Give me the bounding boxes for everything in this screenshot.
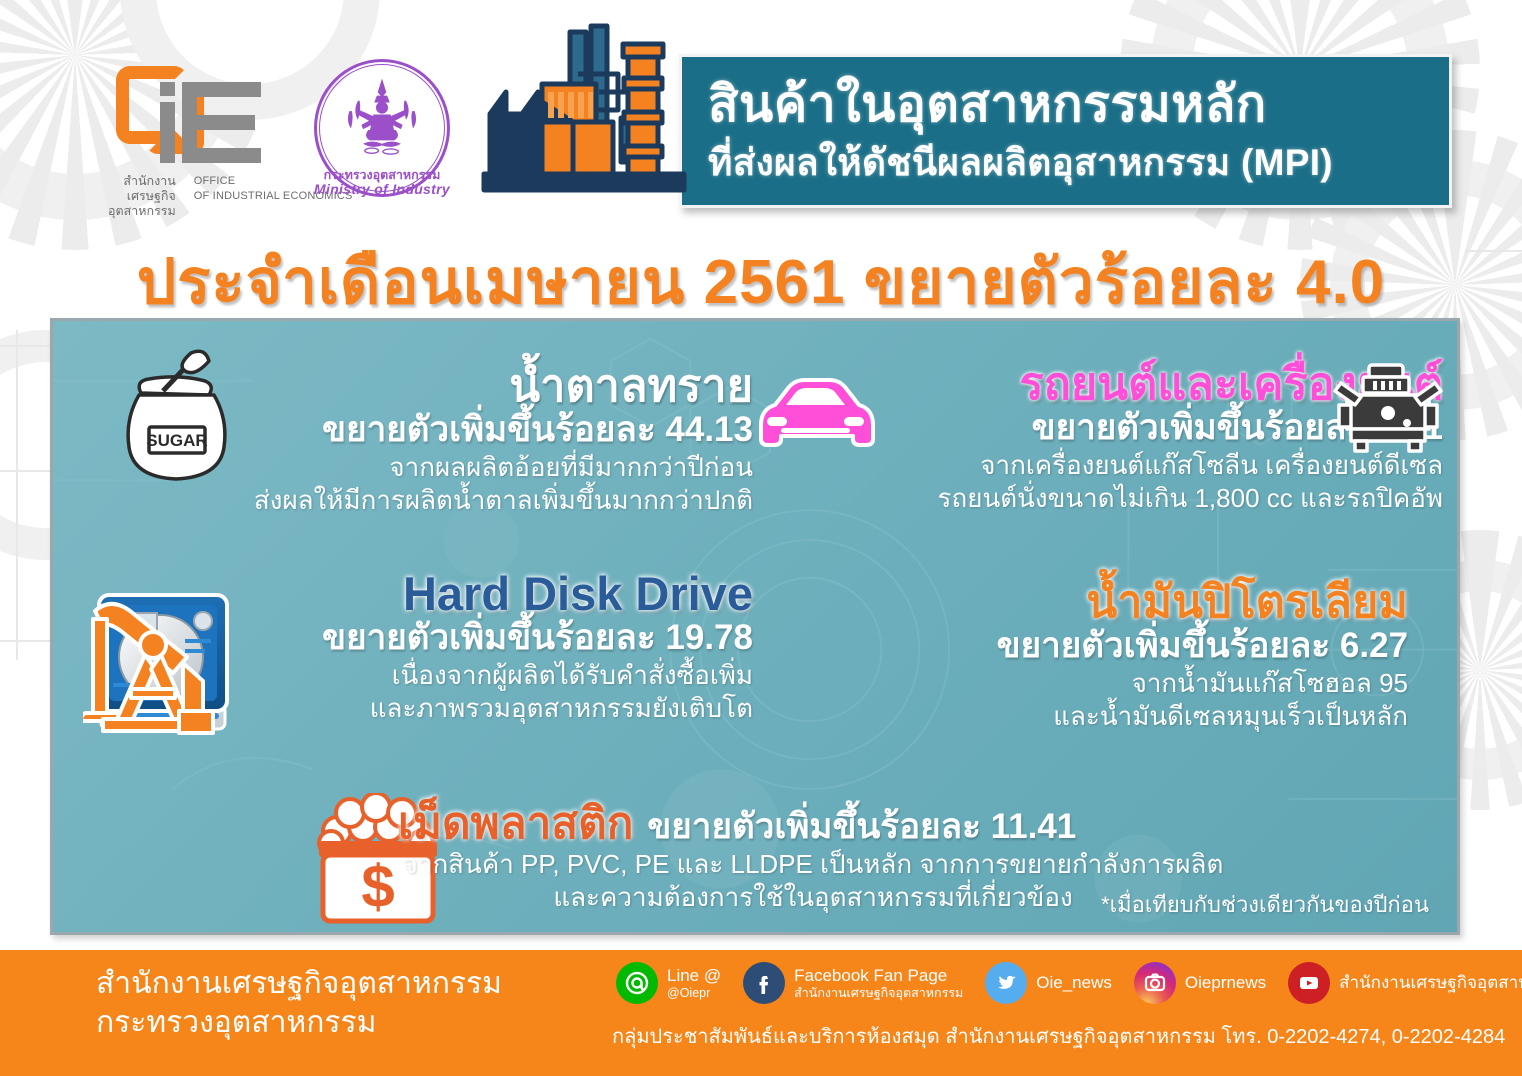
item-plastic-first-row: เม็ดพลาสติก ขยายตัวเพิ่มขึ้นร้อยละ 11.41 [398, 801, 1228, 848]
social-label-youtube-main: สำนักงานเศรษฐกิจอุตสาหกรรม [1339, 973, 1522, 992]
social-label-twitter-main: Oie_news [1036, 973, 1112, 992]
ministry-of-industry-seal: กระทรวงอุตสาหกรรม Ministry of Industry [306, 55, 458, 207]
social-label-facebook-main: Facebook Fan Page [794, 966, 947, 985]
car-icon [753, 373, 878, 459]
social-label-instagram-main: Oieprnews [1185, 973, 1266, 992]
page-header: สำนักงาน เศรษฐกิจอุตสาหกรรม OFFICE OF IN… [0, 0, 1522, 222]
item-petroleum-stat: ขยายตัวเพิ่มขึ้นร้อยละ 6.27 [753, 625, 1408, 667]
item-sugar: น้ำตาลทราย ขยายตัวเพิ่มขึ้นร้อยละ 44.13 … [133, 363, 753, 517]
footer-contact-line: กลุ่มประชาสัมพันธ์และบริการห้องสมุด สำนั… [612, 1020, 1505, 1052]
social-label-line-sub: @Oiepr [667, 986, 721, 1001]
oie-letter-i-dot [160, 82, 175, 96]
svg-text:$: $ [361, 853, 394, 920]
seal-text-english: Ministry of Industry [307, 182, 457, 196]
oil-pumpjack-icon [83, 593, 263, 743]
item-petroleum-headline: น้ำมันปิโตรเลียม [753, 579, 1408, 625]
main-content-panel: SUGAR น้ำตาลทราย ขยายตัวเพิ่มขึ้นร้อยละ … [50, 318, 1460, 935]
oie-caption-thai-line1: สำนักงาน [108, 174, 176, 189]
footer-organization: สำนักงานเศรษฐกิจอุตสาหกรรม กระทรวงอุตสาห… [96, 964, 502, 1042]
instagram-icon[interactable] [1134, 962, 1176, 1004]
item-automotive-desc-2: รถยนต์นั่งขนาดไม่เกิน 1,800 cc และรถปิคอ… [753, 482, 1443, 515]
item-plastic-stat: ขยายตัวเพิ่มขึ้นร้อยละ 11.41 [647, 806, 1076, 848]
social-link-twitter[interactable]: Oie_news [985, 962, 1112, 1004]
item-sugar-desc-2: ส่งผลให้มีการผลิตน้ำตาลเพิ่มขึ้นมากกว่าป… [133, 484, 753, 517]
item-petroleum-desc-2: และน้ำมันดีเซลหมุนเร็วเป็นหลัก [753, 700, 1408, 733]
youtube-icon[interactable] [1288, 962, 1330, 1004]
oie-letter-e-bar-top [182, 82, 261, 97]
oie-logo-mark [116, 62, 266, 167]
factory-icon [478, 22, 713, 214]
seal-text: กระทรวงอุตสาหกรรม Ministry of Industry [307, 168, 457, 196]
social-label-line: Line @ @Oiepr [667, 966, 721, 1001]
social-label-facebook: Facebook Fan Page สำนักงานเศรษฐกิจอุตสาห… [794, 966, 963, 1001]
social-link-youtube[interactable]: สำนักงานเศรษฐกิจอุตสาหกรรม [1288, 962, 1522, 1004]
title-banner: สินค้าในอุตสาหกรรมหลัก ที่ส่งผลให้ดัชนีผ… [679, 54, 1452, 208]
title-line-2: ที่ส่งผลให้ดัชนีผลผลิตอุสาหกรรม (MPI) [708, 133, 1333, 192]
oie-caption-thai-line2: เศรษฐกิจอุตสาหกรรม [108, 189, 176, 219]
item-petroleum: น้ำมันปิโตรเลียม ขยายตัวเพิ่มขึ้นร้อยละ … [753, 579, 1408, 733]
subtitle-text: ประจำเดือนเมษายน 2561 ขยายตัวร้อยละ 4.0 [137, 233, 1386, 331]
oie-logo: สำนักงาน เศรษฐกิจอุตสาหกรรม OFFICE OF IN… [108, 62, 308, 220]
social-label-youtube: สำนักงานเศรษฐกิจอุตสาหกรรม [1339, 973, 1522, 993]
engine-icon [1333, 361, 1443, 457]
twitter-icon[interactable] [985, 962, 1027, 1004]
page-footer: สำนักงานเศรษฐกิจอุตสาหกรรม กระทรวงอุตสาห… [0, 950, 1522, 1076]
item-sugar-headline: น้ำตาลทราย [133, 363, 753, 409]
footer-org-line2: กระทรวงอุตสาหกรรม [96, 1003, 502, 1042]
facebook-icon[interactable] [743, 962, 785, 1004]
social-label-instagram: Oieprnews [1185, 973, 1266, 993]
item-petroleum-desc-1: จากน้ำมันแก๊สโซฮอล 95 [753, 667, 1408, 700]
oie-letter-i-stem [160, 102, 175, 163]
social-label-twitter: Oie_news [1036, 973, 1112, 993]
footer-org-line1: สำนักงานเศรษฐกิจอุตสาหกรรม [96, 964, 502, 1003]
social-link-instagram[interactable]: Oieprnews [1134, 962, 1266, 1004]
social-label-line-main: Line @ [667, 966, 721, 985]
social-link-facebook[interactable]: Facebook Fan Page สำนักงานเศรษฐกิจอุตสาห… [743, 962, 963, 1004]
item-plastic-headline: เม็ดพลาสติก [398, 801, 633, 847]
seal-text-thai: กระทรวงอุตสาหกรรม [307, 168, 457, 182]
item-sugar-desc-1: จากผลผลิตอ้อยที่มีมากกว่าปีก่อน [133, 451, 753, 484]
panel-footnote: *เมื่อเทียบกับช่วงเดียวกันของปีก่อน [1101, 887, 1429, 922]
oie-logo-caption: สำนักงาน เศรษฐกิจอุตสาหกรรม OFFICE OF IN… [108, 174, 318, 219]
oie-letter-e-bar-bottom [182, 148, 261, 163]
subtitle-row: ประจำเดือนเมษายน 2561 ขยายตัวร้อยละ 4.0 [0, 233, 1522, 311]
social-links-row: Line @ @Oiepr Facebook Fan Page สำนักงาน… [616, 962, 1522, 1004]
line-icon[interactable] [616, 962, 658, 1004]
seal-deity-figure [339, 75, 425, 161]
oie-caption-thai: สำนักงาน เศรษฐกิจอุตสาหกรรม [108, 174, 176, 219]
social-link-line[interactable]: Line @ @Oiepr [616, 962, 721, 1004]
oie-letter-e-bar-mid [190, 115, 255, 130]
social-label-facebook-sub: สำนักงานเศรษฐกิจอุตสาหกรรม [794, 986, 963, 1001]
item-plastic-desc-1: จากสินค้า PP, PVC, PE และ LLDPE เป็นหลัก… [398, 848, 1228, 881]
item-sugar-stat: ขยายตัวเพิ่มขึ้นร้อยละ 44.13 [133, 409, 753, 451]
item-automotive: รถยนต์และเครื่องยนต์ ขยายตัวเพิ่มขึ้นร้อ… [753, 361, 1443, 515]
